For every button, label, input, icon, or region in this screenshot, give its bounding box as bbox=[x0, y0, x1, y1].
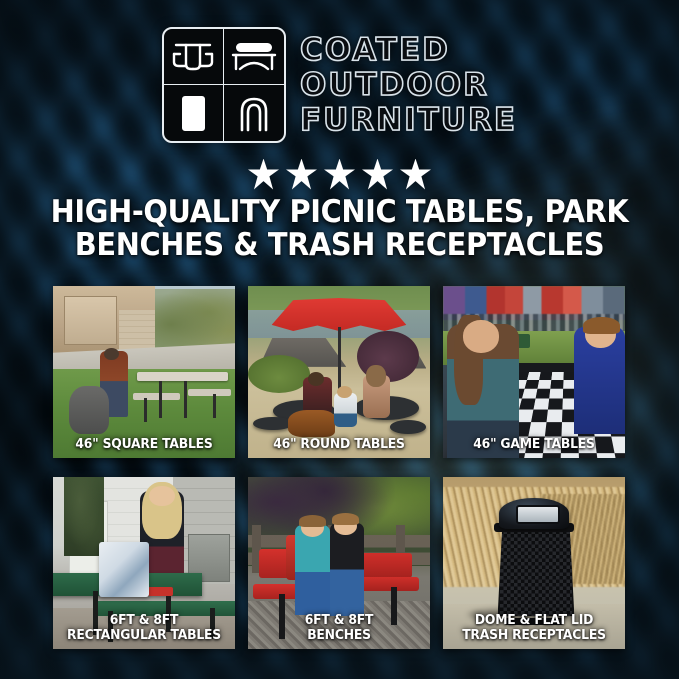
wordmark-line-2: OUTDOOR bbox=[300, 68, 517, 102]
bench-icon bbox=[224, 29, 284, 85]
product-tile-game-tables[interactable]: 46" GAME TABLES bbox=[443, 286, 625, 458]
picnic-table-icon bbox=[164, 29, 224, 85]
product-caption: 46" GAME TABLES bbox=[450, 438, 617, 453]
wordmark-line-3: FURNITURE bbox=[300, 103, 517, 137]
product-photo-round-tables bbox=[248, 286, 430, 458]
product-grid: 46" SQUARE TABLES bbox=[53, 286, 625, 649]
product-caption: DOME & FLAT LID TRASH RECEPTACLES bbox=[450, 614, 617, 643]
star-icon bbox=[324, 159, 355, 190]
product-tile-square-tables[interactable]: 46" SQUARE TABLES bbox=[53, 286, 235, 458]
product-tile-rectangular-tables[interactable]: 6FT & 8FT RECTANGULAR TABLES bbox=[53, 477, 235, 649]
bike-rack-icon bbox=[224, 85, 284, 141]
product-caption: 46" ROUND TABLES bbox=[255, 438, 422, 453]
product-tile-benches[interactable]: 6FT & 8FT BENCHES bbox=[248, 477, 430, 649]
product-photo-square-tables bbox=[53, 286, 235, 458]
product-caption: 6FT & 8FT BENCHES bbox=[255, 614, 422, 643]
coated-outdoor-furniture-logo bbox=[162, 27, 286, 143]
star-icon bbox=[362, 159, 393, 190]
headline-line-1: HIGH-QUALITY PICNIC TABLES, PARK bbox=[46, 196, 633, 229]
star-icon bbox=[248, 159, 279, 190]
product-tile-trash-receptacles[interactable]: DOME & FLAT LID TRASH RECEPTACLES bbox=[443, 477, 625, 649]
star-icon bbox=[400, 159, 431, 190]
brand-header: COATED OUTDOOR FURNITURE bbox=[0, 22, 679, 148]
star-rating bbox=[0, 158, 679, 190]
product-tile-round-tables[interactable]: 46" ROUND TABLES bbox=[248, 286, 430, 458]
page-title: HIGH-QUALITY PICNIC TABLES, PARK BENCHES… bbox=[24, 196, 655, 262]
product-caption: 6FT & 8FT RECTANGULAR TABLES bbox=[60, 614, 227, 643]
product-caption: 46" SQUARE TABLES bbox=[60, 438, 227, 453]
trash-receptacle-icon bbox=[164, 85, 224, 141]
headline-line-2: BENCHES & TRASH RECEPTACLES bbox=[46, 229, 633, 262]
wordmark-line-1: COATED bbox=[300, 33, 517, 67]
product-poster: COATED OUTDOOR FURNITURE HIGH-QUALITY PI… bbox=[0, 0, 679, 679]
brand-wordmark: COATED OUTDOOR FURNITURE bbox=[300, 33, 517, 137]
product-photo-game-tables bbox=[443, 286, 625, 458]
star-icon bbox=[286, 159, 317, 190]
